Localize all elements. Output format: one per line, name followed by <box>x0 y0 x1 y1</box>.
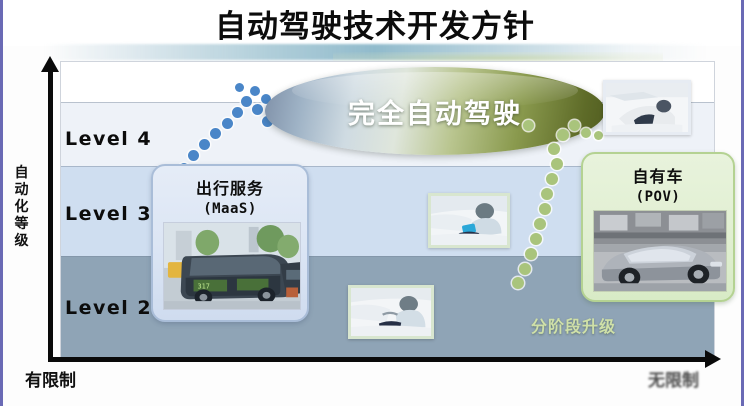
maas-card-subtitle: (MaaS) <box>153 201 307 217</box>
level-label-2: Level 2 <box>65 297 152 319</box>
maas-path-dot <box>199 139 210 150</box>
level-label-4: Level 4 <box>65 128 152 150</box>
pov-path-dot <box>525 248 537 260</box>
pov-path-dot <box>594 131 603 140</box>
pov-path-dot <box>548 143 560 155</box>
x-axis-left-label: 有限制 <box>25 366 76 391</box>
y-axis-label: 自动化等级 <box>9 165 35 250</box>
title-bar: 自动驾驶技术开发方针 <box>3 0 744 46</box>
maas-path-dot <box>210 128 221 139</box>
pov-card-subtitle: (POV) <box>583 189 733 205</box>
x-axis-arrowhead-icon <box>705 350 721 368</box>
maas-path-dot <box>241 96 252 107</box>
maas-card[interactable]: 出行服务 (MaaS) 317 <box>151 164 309 322</box>
pov-path-dot <box>539 203 551 215</box>
svg-text:317: 317 <box>198 283 210 291</box>
phased-upgrade-label: 分阶段升级 <box>531 313 616 337</box>
page-title: 自动驾驶技术开发方针 <box>215 1 535 46</box>
pov-path-dot <box>557 129 569 141</box>
maas-card-title: 出行服务 <box>153 175 307 199</box>
tablet-user-in-car-thumbnail <box>428 193 510 248</box>
pov-card-title: 自有车 <box>583 163 733 187</box>
full-autonomy-label: 完全自动驾驶 <box>265 67 605 155</box>
maas-path-dot <box>250 86 260 96</box>
pov-path-dot <box>519 263 531 275</box>
pov-path-dot <box>523 120 534 131</box>
x-axis-line <box>48 357 708 362</box>
pov-path-dot <box>534 218 546 230</box>
maas-path-dot <box>252 104 263 115</box>
pov-path-dot <box>551 158 563 170</box>
maas-path-dot <box>222 118 233 129</box>
level-label-3: Level 3 <box>65 203 152 225</box>
full-autonomy-ellipse: 完全自动驾驶 <box>265 67 605 155</box>
pov-card[interactable]: 自有车 (POV) <box>581 152 735 302</box>
driver-at-wheel-thumbnail <box>348 285 434 339</box>
maas-path-dot <box>235 83 244 92</box>
y-axis-arrowhead-icon <box>41 56 59 72</box>
pov-sedan-photo <box>593 210 727 292</box>
x-axis-right-label: 无限制 <box>648 366 699 391</box>
pov-path-dot <box>541 188 553 200</box>
pov-path-dot <box>546 173 558 185</box>
maas-path-dot <box>232 107 243 118</box>
pov-path-dot <box>512 277 524 289</box>
reclined-passenger-thumbnail <box>603 80 691 135</box>
y-axis-line <box>48 66 53 360</box>
maas-path-dot <box>188 150 199 161</box>
slide-root: 自动驾驶技术开发方针 自动化等级 有限制 无限制 Level 4 Level 3… <box>0 0 744 406</box>
pov-path-dot <box>581 128 591 138</box>
pov-path-dot <box>569 120 580 131</box>
maas-shuttle-photo: 317 <box>163 222 301 310</box>
pov-path-dot <box>530 233 542 245</box>
